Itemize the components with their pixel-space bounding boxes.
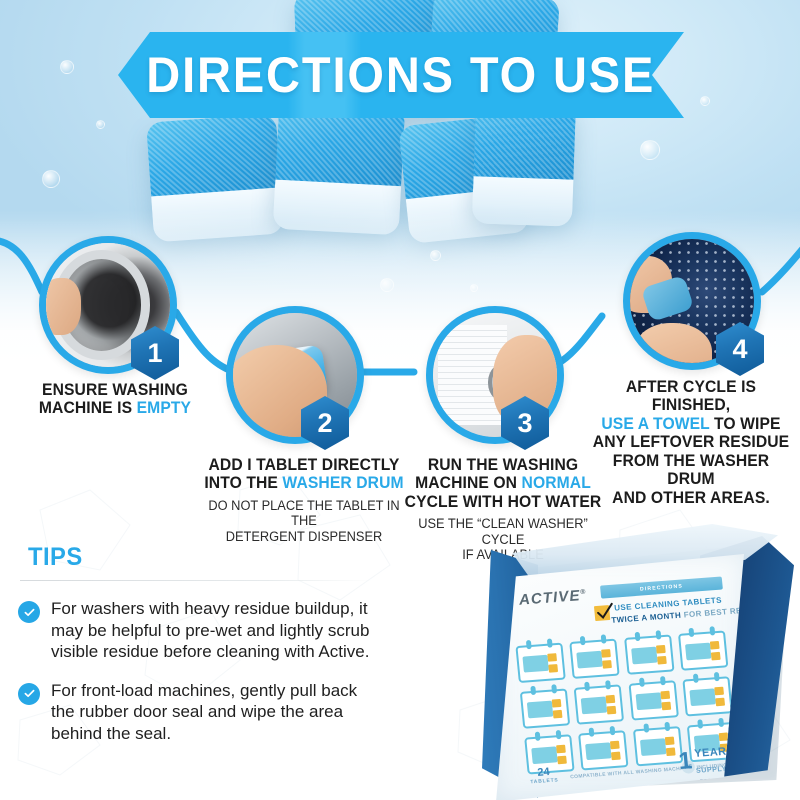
supply-number: 1 xyxy=(678,750,693,772)
step-1-line-1: ENSURE WASHING xyxy=(42,381,188,399)
water-bubble xyxy=(640,140,660,160)
step-1-number: 1 xyxy=(147,340,162,367)
step-4-line-4: FROM THE WASHER DRUM xyxy=(613,452,769,488)
tablet-count-block: 24 TABLETS xyxy=(523,765,565,786)
step-2-line-2a: INTO THE xyxy=(204,474,282,492)
step-4-number: 4 xyxy=(732,336,747,363)
calendar-icon xyxy=(574,684,624,724)
step-4-line-3: ANY LEFTOVER RESIDUE xyxy=(593,433,789,451)
calendar-icon xyxy=(624,634,674,674)
page-title: DIRECTIONS TO USE xyxy=(146,46,655,104)
water-bubble xyxy=(96,120,105,129)
step-2-line-1: ADD I TABLET DIRECTLY xyxy=(209,456,400,474)
calendar-icon xyxy=(570,639,620,679)
header-banner: DIRECTIONS TO USE xyxy=(118,32,684,118)
tips-divider xyxy=(20,580,372,581)
step-3-line-2a: MACHINE ON xyxy=(415,474,521,492)
calendar-icon xyxy=(578,730,628,770)
step-4-caption: AFTER CYCLE IS FINISHED, USE A TOWEL TO … xyxy=(582,378,800,507)
step-3-line-1: RUN THE WASHING xyxy=(428,456,578,474)
product-box: ACTIVE® DIRECTIONS USE CLEANING TABLETS … xyxy=(478,520,800,800)
calendar-icon xyxy=(628,680,678,720)
supply-block: 1 YEAR SUPPLY xyxy=(677,743,728,778)
directions-label: DIRECTIONS xyxy=(640,583,683,592)
calendar-icon xyxy=(678,630,728,670)
directions-bar: DIRECTIONS xyxy=(600,577,723,599)
tips-heading: TIPS xyxy=(28,543,408,572)
yellow-checkbox-icon xyxy=(594,605,610,621)
calendar-icon xyxy=(632,726,682,766)
step-2-caption: ADD I TABLET DIRECTLY INTO THE WASHER DR… xyxy=(193,456,415,544)
tip-item: For front-load machines, gently pull bac… xyxy=(18,680,418,745)
tip-text-1: For washers with heavy residue buildup, … xyxy=(51,598,381,663)
check-circle-icon xyxy=(18,683,40,705)
water-bubble xyxy=(60,60,74,74)
box-front-face: ACTIVE® DIRECTIONS USE CLEANING TABLETS … xyxy=(496,554,744,800)
step-4-line-5: AND OTHER AREAS. xyxy=(612,489,770,507)
step-1-caption: ENSURE WASHING MACHINE IS EMPTY xyxy=(10,381,220,418)
brand-logo: ACTIVE® xyxy=(518,587,587,609)
calendar-icon xyxy=(520,688,570,728)
tip-item: For washers with heavy residue buildup, … xyxy=(18,598,418,663)
step-4-line-1: AFTER CYCLE IS FINISHED, xyxy=(626,378,756,414)
check-circle-icon xyxy=(18,601,40,623)
tip-text-2: For front-load machines, gently pull bac… xyxy=(51,680,381,745)
infographic-page: DIRECTIONS TO USE 1 ENSURE WASHING MACHI… xyxy=(0,0,800,800)
step-3-number: 3 xyxy=(517,410,532,437)
step-1-line-2a: MACHINE IS xyxy=(39,399,137,417)
step-2-sub-1: DO NOT PLACE THE TABLET IN THE xyxy=(208,498,399,528)
water-bubble xyxy=(700,96,710,106)
step-2-sub-2: DETERGENT DISPENSER xyxy=(226,529,383,544)
step-2-number: 2 xyxy=(317,410,332,437)
step-4-highlight: USE A TOWEL xyxy=(601,415,709,433)
box-instruction-bold: TWICE A MONTH xyxy=(611,611,682,625)
calendar-icon xyxy=(682,676,732,716)
supply-year-label: YEAR xyxy=(694,746,727,760)
water-bubble xyxy=(42,170,60,188)
calendar-icon xyxy=(515,643,565,683)
step-3-highlight: NORMAL xyxy=(522,474,591,492)
step-4-line-2b: TO WIPE xyxy=(710,415,781,433)
supply-word-label: SUPPLY xyxy=(696,766,728,775)
brand-registered-mark: ® xyxy=(580,589,587,596)
brand-name: ACTIVE xyxy=(518,587,581,609)
step-1-highlight: EMPTY xyxy=(137,399,191,417)
step-3-line-3: CYCLE WITH HOT WATER xyxy=(405,493,602,511)
step-2-highlight: WASHER DRUM xyxy=(282,474,403,492)
tips-section: TIPS For washers with heavy residue buil… xyxy=(18,543,418,744)
